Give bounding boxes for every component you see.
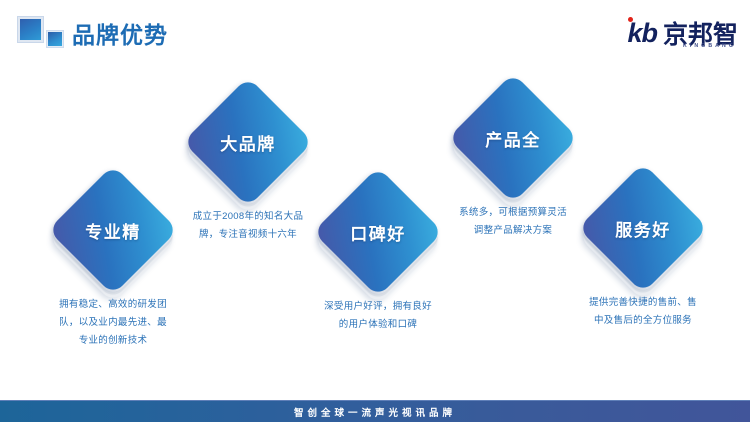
diamond-label: 专业精 <box>53 170 173 290</box>
slide-footer: 智创全球一流声光视讯品牌 <box>0 400 750 422</box>
advantage-caption: 提供完善快捷的售前、售 中及售后的全方位服务 <box>558 294 728 330</box>
caption-line: 中及售后的全方位服务 <box>558 312 728 330</box>
diamond-4: 产品全 <box>453 78 573 198</box>
diamond-label: 大品牌 <box>188 82 308 202</box>
advantage-caption: 拥有稳定、高效的研发团 队，以及业内最先进、最 专业的创新技术 <box>28 296 198 350</box>
caption-line: 队，以及业内最先进、最 <box>28 314 198 332</box>
advantage-item-5: 服务好 提供完善快捷的售前、售 中及售后的全方位服务 <box>558 168 728 330</box>
diamond-label: 产品全 <box>453 78 573 198</box>
caption-line: 专业的创新技术 <box>28 332 198 350</box>
caption-line: 提供完善快捷的售前、售 <box>558 294 728 312</box>
advantage-items: 专业精 拥有稳定、高效的研发团 队，以及业内最先进、最 专业的创新技术 大品牌 … <box>0 0 750 392</box>
diamond-1: 专业精 <box>53 170 173 290</box>
footer-slogan: 智创全球一流声光视讯品牌 <box>294 405 456 419</box>
diamond-3: 口碑好 <box>318 172 438 292</box>
diamond-label: 服务好 <box>583 168 703 288</box>
slide-root: 品牌优势 kb 京邦智 KINGBANG 专业精 拥有稳定、高效的研发团 队，以… <box>0 0 750 422</box>
caption-line: 拥有稳定、高效的研发团 <box>28 296 198 314</box>
caption-line: 的用户体验和口碑 <box>293 316 463 334</box>
diamond-5: 服务好 <box>583 168 703 288</box>
diamond-2: 大品牌 <box>188 82 308 202</box>
caption-line: 深受用户好评，拥有良好 <box>293 298 463 316</box>
diamond-label: 口碑好 <box>318 172 438 292</box>
advantage-caption: 深受用户好评，拥有良好 的用户体验和口碑 <box>293 298 463 334</box>
